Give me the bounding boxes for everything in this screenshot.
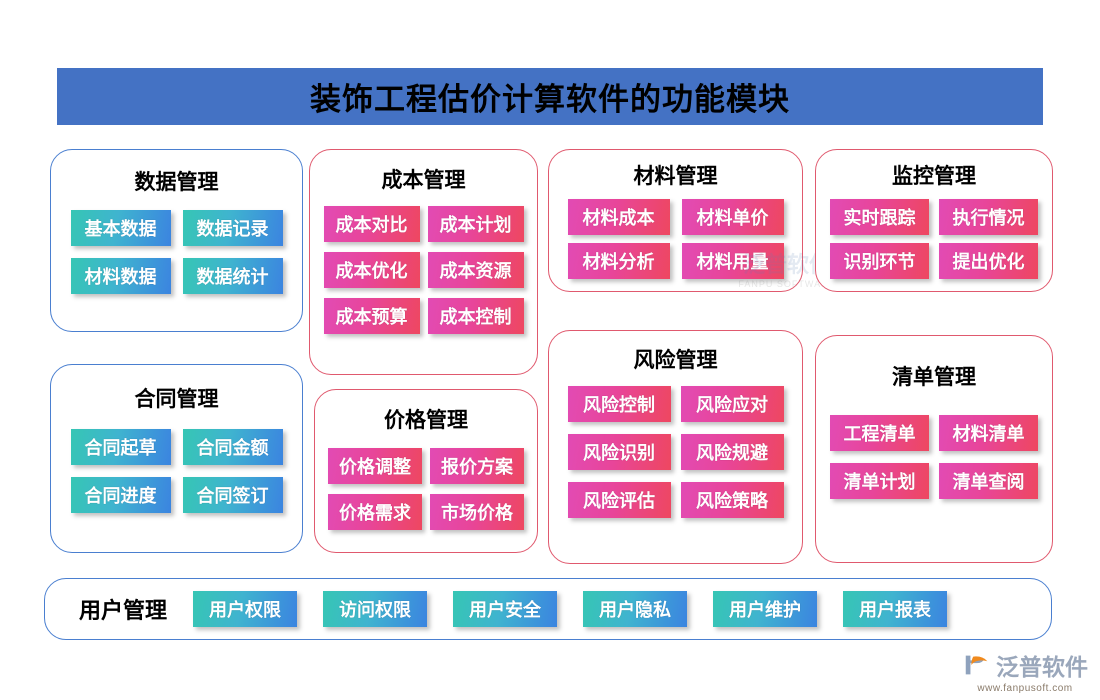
chip-grid-risk-management: 风险控制 风险应对 风险识别 风险规避 风险评估 风险策略 [549,386,802,518]
brand-logo-url: www.fanpusoft.com [977,683,1072,694]
group-title-user-management: 用户管理 [79,593,167,625]
chip-quotation-plan[interactable]: 报价方案 [430,448,524,484]
chip-contract-signing[interactable]: 合同签订 [183,477,283,513]
chip-cost-control[interactable]: 成本控制 [428,298,524,334]
chip-cost-comparison[interactable]: 成本对比 [324,206,420,242]
chip-user-report[interactable]: 用户报表 [843,591,947,627]
group-title-cost-management: 成本管理 [310,164,537,194]
chip-market-price[interactable]: 市场价格 [430,494,524,530]
chip-user-maintenance[interactable]: 用户维护 [713,591,817,627]
chip-project-list[interactable]: 工程清单 [830,415,929,451]
chip-basic-data[interactable]: 基本数据 [71,210,171,246]
chip-grid-price-management: 价格调整 报价方案 价格需求 市场价格 [315,448,537,530]
brand-logo-row: 泛普软件 [962,648,1088,682]
chip-cost-resource[interactable]: 成本资源 [428,252,524,288]
chip-risk-assessment[interactable]: 风险评估 [568,482,671,518]
group-user-management: 用户管理 用户权限 访问权限 用户安全 用户隐私 用户维护 用户报表 [44,578,1052,640]
page-title-banner: 装饰工程估价计算软件的功能模块 [57,68,1043,125]
chip-cost-plan[interactable]: 成本计划 [428,206,524,242]
chip-user-privacy[interactable]: 用户隐私 [583,591,687,627]
group-risk-management: 风险管理 风险控制 风险应对 风险识别 风险规避 风险评估 风险策略 [548,330,803,564]
group-list-management: 清单管理 工程清单 材料清单 清单计划 清单查阅 [815,335,1053,563]
chip-material-list[interactable]: 材料清单 [939,415,1038,451]
chip-contract-progress[interactable]: 合同进度 [71,477,171,513]
group-contract-management: 合同管理 合同起草 合同金额 合同进度 合同签订 [50,364,303,553]
group-title-list-management: 清单管理 [816,361,1052,391]
page-title: 装饰工程估价计算软件的功能模块 [310,74,790,119]
chip-data-statistics[interactable]: 数据统计 [183,258,283,294]
chip-grid-cost-management: 成本对比 成本计划 成本优化 成本资源 成本预算 成本控制 [310,206,537,334]
chip-list-plan[interactable]: 清单计划 [830,463,929,499]
chip-user-permission[interactable]: 用户权限 [193,591,297,627]
chip-material-data[interactable]: 材料数据 [71,258,171,294]
chip-data-record[interactable]: 数据记录 [183,210,283,246]
chip-material-analysis[interactable]: 材料分析 [568,243,670,279]
chip-realtime-tracking[interactable]: 实时跟踪 [830,199,929,235]
group-cost-management: 成本管理 成本对比 成本计划 成本优化 成本资源 成本预算 成本控制 [309,149,538,375]
chip-risk-response[interactable]: 风险应对 [681,386,784,422]
chip-grid-material-management: 材料成本 材料单价 材料分析 材料用量 [549,199,802,279]
chip-propose-optimization[interactable]: 提出优化 [939,243,1038,279]
chip-risk-strategy[interactable]: 风险策略 [681,482,784,518]
diagram-canvas: 装饰工程估价计算软件的功能模块 数据管理 基本数据 数据记录 材料数据 数据统计… [0,0,1100,700]
chip-risk-identification[interactable]: 风险识别 [568,434,671,470]
group-price-management: 价格管理 价格调整 报价方案 价格需求 市场价格 [314,389,538,553]
chip-risk-avoidance[interactable]: 风险规避 [681,434,784,470]
chip-contract-drafting[interactable]: 合同起草 [71,429,171,465]
group-monitor-management: 监控管理 实时跟踪 执行情况 识别环节 提出优化 [815,149,1053,292]
chip-cost-budget[interactable]: 成本预算 [324,298,420,334]
group-title-risk-management: 风险管理 [549,344,802,374]
chip-material-unit-price[interactable]: 材料单价 [682,199,784,235]
chip-material-cost[interactable]: 材料成本 [568,199,670,235]
group-title-data-management: 数据管理 [51,166,302,196]
fanpu-swoosh-icon [962,650,992,680]
chip-identify-link[interactable]: 识别环节 [830,243,929,279]
chip-grid-data-management: 基本数据 数据记录 材料数据 数据统计 [51,210,302,294]
group-data-management: 数据管理 基本数据 数据记录 材料数据 数据统计 [50,149,303,332]
chip-price-adjustment[interactable]: 价格调整 [328,448,422,484]
chip-access-permission[interactable]: 访问权限 [323,591,427,627]
chip-grid-monitor-management: 实时跟踪 执行情况 识别环节 提出优化 [816,199,1052,279]
group-title-monitor-management: 监控管理 [816,160,1052,190]
brand-logo-name: 泛普软件 [996,648,1088,682]
chip-user-security[interactable]: 用户安全 [453,591,557,627]
group-title-price-management: 价格管理 [315,404,537,434]
chip-list-review[interactable]: 清单查阅 [939,463,1038,499]
brand-logo: 泛普软件 www.fanpusoft.com [962,648,1088,694]
chip-contract-amount[interactable]: 合同金额 [183,429,283,465]
chip-execution-status[interactable]: 执行情况 [939,199,1038,235]
chip-material-usage[interactable]: 材料用量 [682,243,784,279]
chip-grid-contract-management: 合同起草 合同金额 合同进度 合同签订 [51,429,302,513]
group-title-contract-management: 合同管理 [51,383,302,413]
group-material-management: 材料管理 材料成本 材料单价 材料分析 材料用量 泛普软件 FANPU SOFT… [548,149,803,292]
chip-cost-optimization[interactable]: 成本优化 [324,252,420,288]
chip-risk-control[interactable]: 风险控制 [568,386,671,422]
group-title-material-management: 材料管理 [549,160,802,190]
chip-price-demand[interactable]: 价格需求 [328,494,422,530]
chip-grid-list-management: 工程清单 材料清单 清单计划 清单查阅 [816,415,1052,499]
